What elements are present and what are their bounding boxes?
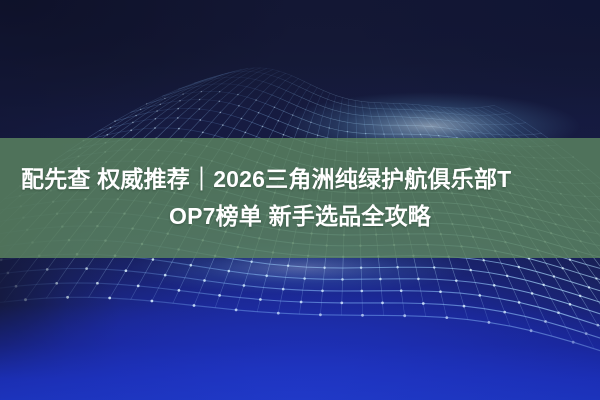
caption-band: 配先查 权威推荐｜2026三角洲纯绿护航俱乐部T OP7榜单 新手选品全攻略 bbox=[0, 138, 600, 258]
poster-canvas: 配先查 权威推荐｜2026三角洲纯绿护航俱乐部T OP7榜单 新手选品全攻略 bbox=[0, 0, 600, 400]
caption-line-2: OP7榜单 新手选品全攻略 bbox=[169, 198, 431, 235]
caption-line-1: 配先查 权威推荐｜2026三角洲纯绿护航俱乐部T bbox=[21, 161, 511, 198]
